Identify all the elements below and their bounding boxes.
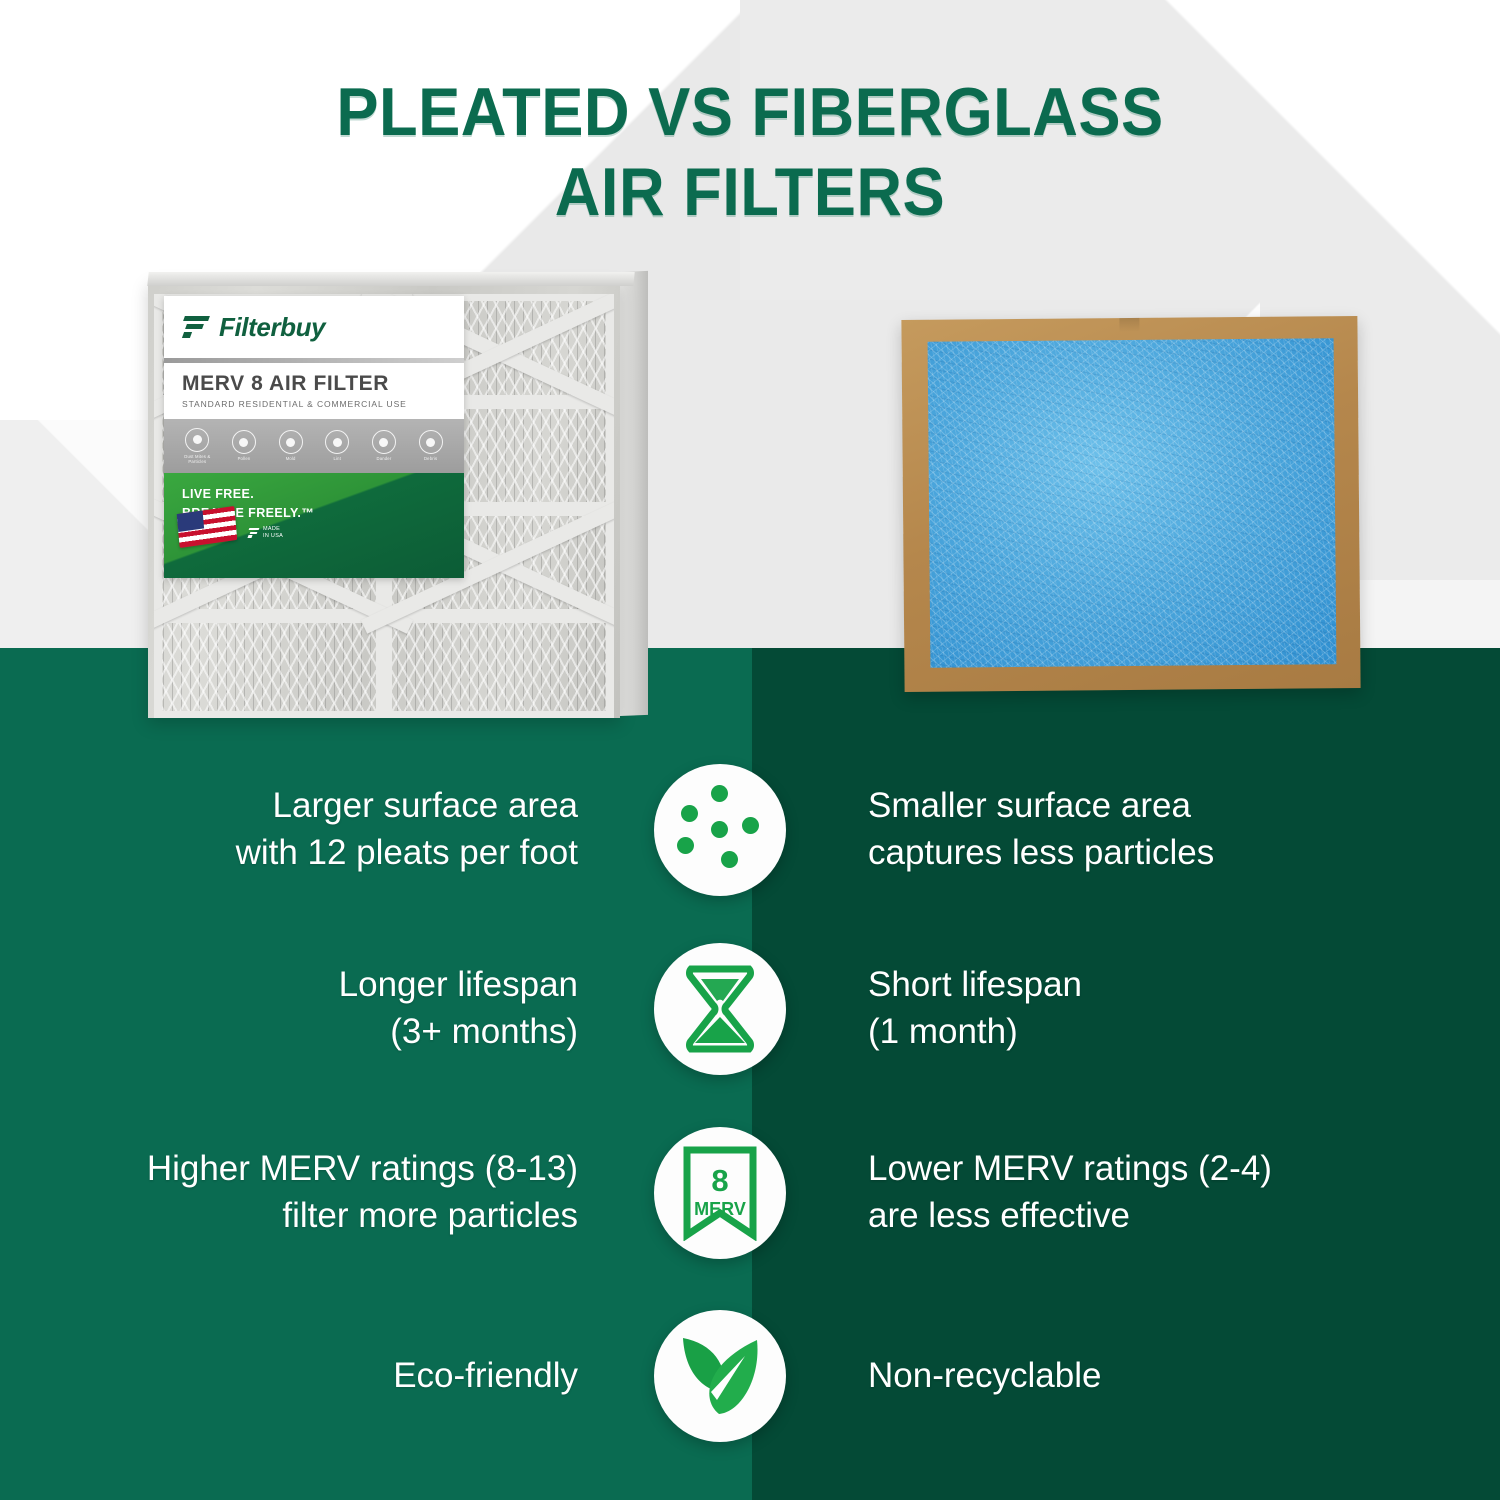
label-product-subtitle: STANDARD RESIDENTIAL & COMMERCIAL USE — [182, 399, 464, 409]
row-left-line-1: Eco-friendly — [393, 1356, 578, 1395]
comparison-row: Higher MERV ratings (8-13) filter more p… — [0, 1098, 1500, 1288]
page-title: PLEATED VS FIBERGLASS AIR FILTERS — [53, 72, 1448, 232]
label-tagline-block: LIVE FREE. BREATHE FREELY.™ MADE IN USA — [164, 473, 464, 578]
pleated-filter-face: Filterbuy MERV 8 AIR FILTER STANDARD RES… — [148, 280, 620, 718]
fiberglass-drawback-text: Short lifespan (1 month) — [820, 962, 1500, 1055]
infographic-canvas: PLEATED VS FIBERGLASS AIR FILTERS — [0, 0, 1500, 1500]
made-in-usa-badge: MADE IN USA — [248, 526, 283, 540]
filterbuy-f-mark-small-icon — [248, 528, 259, 538]
fiberglass-drawback-text: Smaller surface area captures less parti… — [820, 783, 1500, 876]
mold-icon: Mold — [276, 430, 306, 461]
row-right-line-1: Non-recyclable — [868, 1356, 1101, 1395]
comparison-row: Larger surface area with 12 pleats per f… — [0, 740, 1500, 920]
row-right-line-2: are less effective — [868, 1196, 1130, 1235]
dander-icon: Dander — [369, 430, 399, 461]
row-icon-wrap: 8 MERV — [620, 1127, 820, 1259]
lint-icon: Lint — [322, 430, 352, 461]
title-line-1: PLEATED VS FIBERGLASS — [336, 74, 1163, 150]
fiberglass-filter-image — [901, 316, 1360, 692]
capture-icon-label: Lint — [334, 456, 342, 461]
dust-mites-particles-icon: Dust Mites & Particles — [182, 428, 212, 465]
debris-icon: Debris — [416, 430, 446, 461]
filterbuy-product-label: Filterbuy MERV 8 AIR FILTER STANDARD RES… — [164, 296, 464, 578]
usa-flag-icon — [177, 506, 237, 548]
fiberglass-media — [928, 338, 1337, 668]
row-left-line-1: Higher MERV ratings (8-13) — [147, 1149, 578, 1188]
pleated-filter-image: Filterbuy MERV 8 AIR FILTER STANDARD RES… — [148, 272, 648, 724]
merv-badge-number: 8 — [711, 1163, 728, 1198]
pleated-benefit-text: Larger surface area with 12 pleats per f… — [0, 783, 620, 876]
fiberglass-drawback-text: Lower MERV ratings (2-4) are less effect… — [820, 1146, 1500, 1239]
row-right-line-1: Smaller surface area — [868, 786, 1191, 825]
merv-ribbon-icon: 8 MERV — [654, 1127, 786, 1259]
filterbuy-wordmark: Filterbuy — [219, 312, 325, 343]
capture-icon-label: Dust Mites & Particles — [182, 454, 212, 465]
capture-icon-label: Debris — [424, 456, 437, 461]
pleated-filter-top-edge — [147, 272, 634, 286]
made-in-usa-line-1: MADE — [263, 526, 280, 532]
row-left-line-2: filter more particles — [282, 1196, 578, 1235]
row-right-line-1: Lower MERV ratings (2-4) — [868, 1149, 1272, 1188]
filterbuy-f-mark-icon — [182, 314, 210, 340]
label-product-name: MERV 8 AIR FILTER — [182, 372, 464, 396]
merv-badge-label: MERV — [694, 1199, 746, 1219]
pollen-icon: Pollen — [229, 430, 259, 461]
row-left-line-2: (3+ months) — [390, 1012, 578, 1051]
capture-icon-label: Dander — [376, 456, 391, 461]
particles-icon — [654, 764, 786, 896]
particle-dots — [673, 783, 767, 877]
row-right-line-2: (1 month) — [868, 1012, 1018, 1051]
fiberglass-texture — [928, 338, 1337, 668]
row-left-line-1: Larger surface area — [273, 786, 578, 825]
row-icon-wrap — [620, 943, 820, 1075]
comparison-row: Eco-friendly Non-recyclable — [0, 1288, 1500, 1464]
row-left-line-2: with 12 pleats per foot — [236, 833, 578, 872]
label-tagline-line-1: LIVE FREE. — [182, 485, 464, 504]
row-left-line-1: Longer lifespan — [339, 965, 578, 1004]
title-line-2: AIR FILTERS — [53, 152, 1448, 232]
pleated-benefit-text: Eco-friendly — [0, 1353, 620, 1400]
frame-seam — [1119, 318, 1139, 332]
comparison-rows: Larger surface area with 12 pleats per f… — [0, 740, 1500, 1464]
pleated-filter-side-edge — [620, 271, 648, 716]
made-in-usa-line-2: IN USA — [263, 533, 283, 539]
fiberglass-drawback-text: Non-recyclable — [820, 1353, 1500, 1400]
capture-icon-label: Mold — [286, 456, 296, 461]
row-icon-wrap — [620, 1310, 820, 1442]
row-right-line-1: Short lifespan — [868, 965, 1082, 1004]
capture-icon-label: Pollen — [238, 456, 251, 461]
comparison-row: Longer lifespan (3+ months) Short lifesp… — [0, 920, 1500, 1098]
pleated-benefit-text: Longer lifespan (3+ months) — [0, 962, 620, 1055]
pleated-benefit-text: Higher MERV ratings (8-13) filter more p… — [0, 1146, 620, 1239]
hourglass-icon — [654, 943, 786, 1075]
row-right-line-2: captures less particles — [868, 833, 1214, 872]
row-icon-wrap — [620, 764, 820, 896]
label-product-name-block: MERV 8 AIR FILTER STANDARD RESIDENTIAL &… — [164, 363, 464, 413]
filterbuy-logo: Filterbuy — [164, 296, 464, 358]
leaf-icon — [654, 1310, 786, 1442]
label-capture-icon-row: Dust Mites & Particles Pollen Mold Lint — [164, 419, 464, 473]
